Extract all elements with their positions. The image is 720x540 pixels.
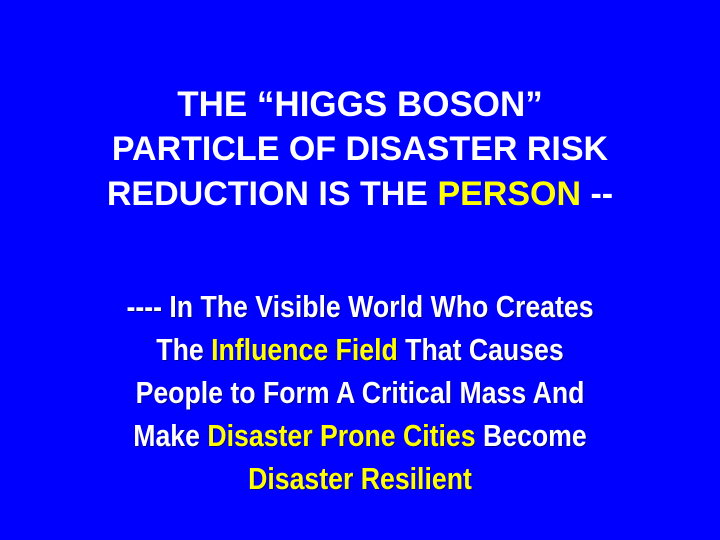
title-line-1: THE “HIGGS BOSON” (0, 82, 720, 127)
slide-body: ---- In The Visible World Who Creates Th… (0, 285, 720, 500)
body-line-4-prefix: Make (133, 418, 207, 453)
title-line-3-prefix: REDUCTION IS THE (107, 175, 438, 213)
body-line-2-suffix: That Causes (398, 332, 564, 367)
body-highlight-disaster-prone-cities: Disaster Prone Cities (207, 418, 475, 453)
body-line-3: People to Form A Critical Mass And (50, 371, 669, 414)
body-line-1: ---- In The Visible World Who Creates (50, 285, 669, 328)
body-line-4: Make Disaster Prone Cities Become (50, 414, 669, 457)
title-line-3: REDUCTION IS THE PERSON -- (0, 172, 720, 217)
body-line-2: The Influence Field That Causes (50, 328, 669, 371)
body-line-5-highlight-disaster-resilient: Disaster Resilient (50, 457, 669, 500)
body-highlight-influence-field: Influence Field (211, 332, 398, 367)
body-line-2-prefix: The (156, 332, 211, 367)
title-line-3-suffix: -- (581, 175, 613, 213)
title-line-2: PARTICLE OF DISASTER RISK (0, 127, 720, 172)
slide-title: THE “HIGGS BOSON” PARTICLE OF DISASTER R… (0, 82, 720, 217)
presentation-slide: THE “HIGGS BOSON” PARTICLE OF DISASTER R… (0, 0, 720, 540)
body-line-4-suffix: Become (476, 418, 587, 453)
title-highlight-person: PERSON (437, 175, 581, 213)
